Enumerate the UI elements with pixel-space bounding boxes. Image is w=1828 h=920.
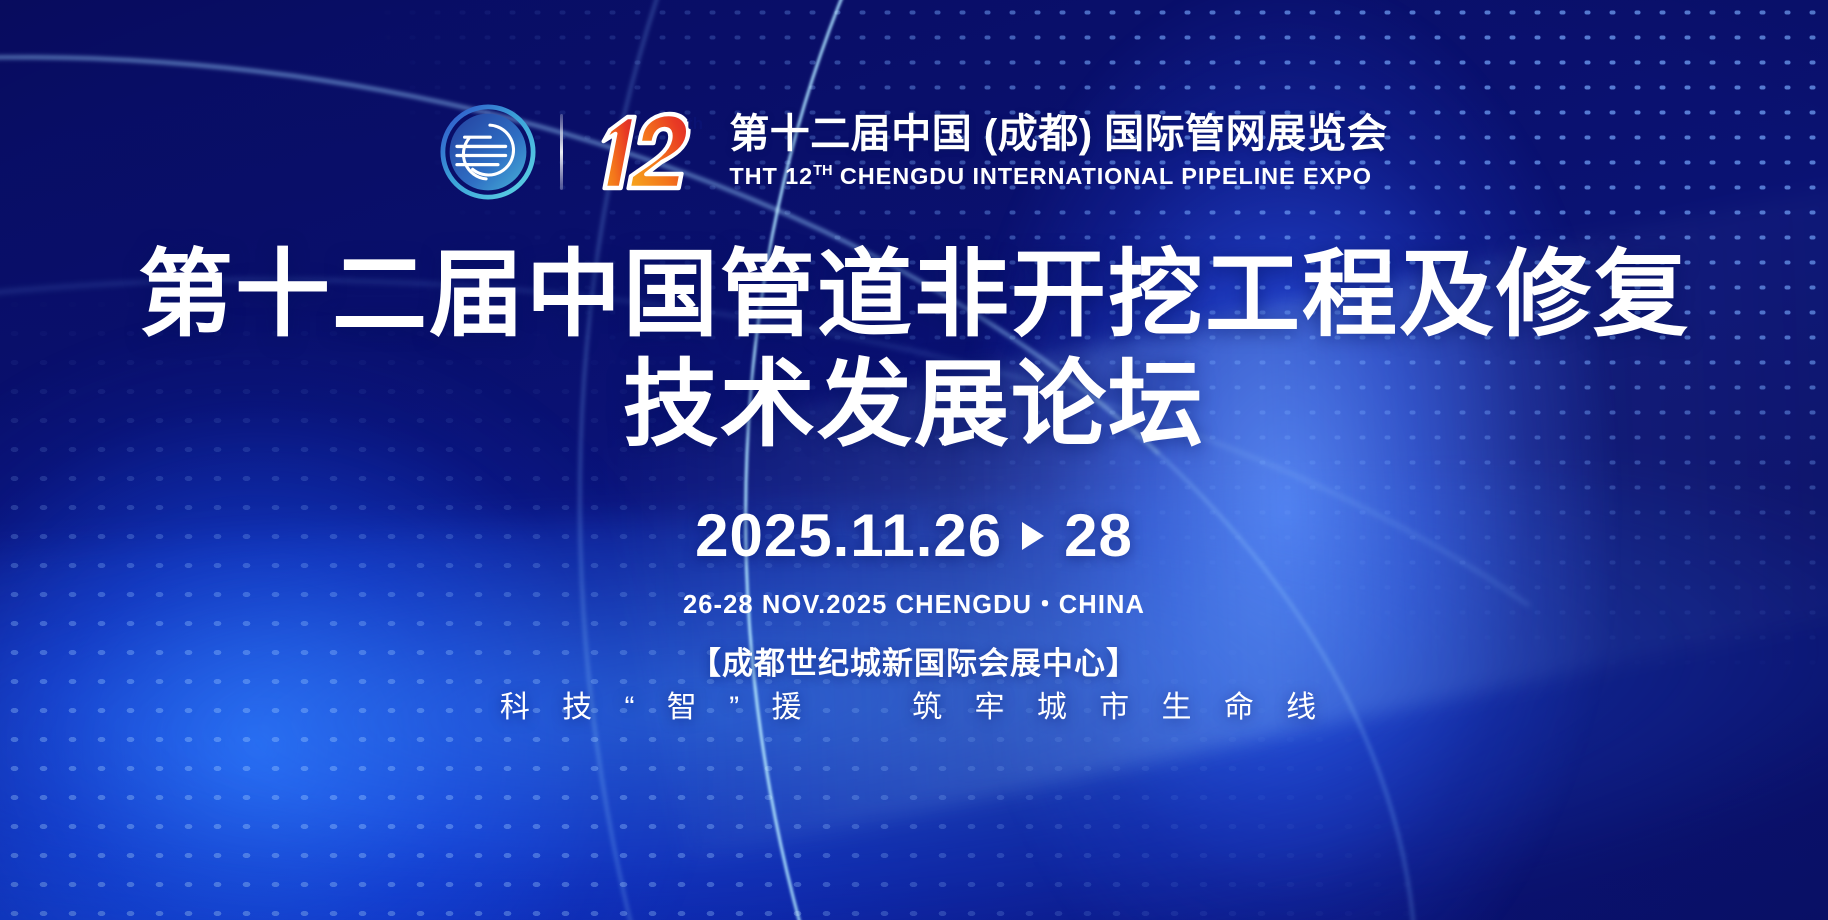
expo-name-block: 第十二届中国 (成都) 国际管网展览会 THT 12TH CHENGDU INT…: [729, 113, 1387, 192]
play-triangle-icon: [1022, 522, 1044, 550]
svg-text:th: th: [687, 114, 703, 133]
expo-name-en-ordinal: TH: [813, 163, 832, 179]
forum-title-line-1: 第十二届中国管道非开挖工程及修复: [138, 240, 1690, 350]
logo-lockup: th 第十二届中国 (成都) 国际管网展览会 THT 12TH CHENGDU …: [440, 104, 1387, 200]
event-date-main: 2025.11.26 28: [695, 506, 1133, 566]
pipeline-circle-emblem-icon: [440, 104, 536, 200]
expo-name-en-rest: CHENGDU INTERNATIONAL PIPELINE EXPO: [832, 163, 1371, 189]
forum-title: 第十二届中国管道非开挖工程及修复 技术发展论坛: [138, 240, 1690, 460]
forum-title-line-2: 技术发展论坛: [138, 350, 1690, 460]
event-venue: 【成都世纪城新国际会展中心】: [690, 638, 1138, 683]
event-date-end: 28: [1064, 506, 1133, 566]
event-date-english: 26-28 NOV.2025 CHENGDU・CHINA: [683, 584, 1145, 621]
expo-name-en-prefix: THT 12: [729, 163, 813, 189]
expo-name-en: THT 12TH CHENGDU INTERNATIONAL PIPELINE …: [729, 162, 1387, 191]
expo-name-cn: 第十二届中国 (成都) 国际管网展览会: [729, 113, 1387, 156]
edition-numeral-12th-icon: th: [587, 104, 705, 200]
event-date-start: 2025.11.26: [695, 506, 1002, 566]
logo-divider: [560, 114, 563, 190]
expo-banner: th 第十二届中国 (成都) 国际管网展览会 THT 12TH CHENGDU …: [0, 0, 1828, 920]
banner-content: th 第十二届中国 (成都) 国际管网展览会 THT 12TH CHENGDU …: [0, 0, 1828, 920]
